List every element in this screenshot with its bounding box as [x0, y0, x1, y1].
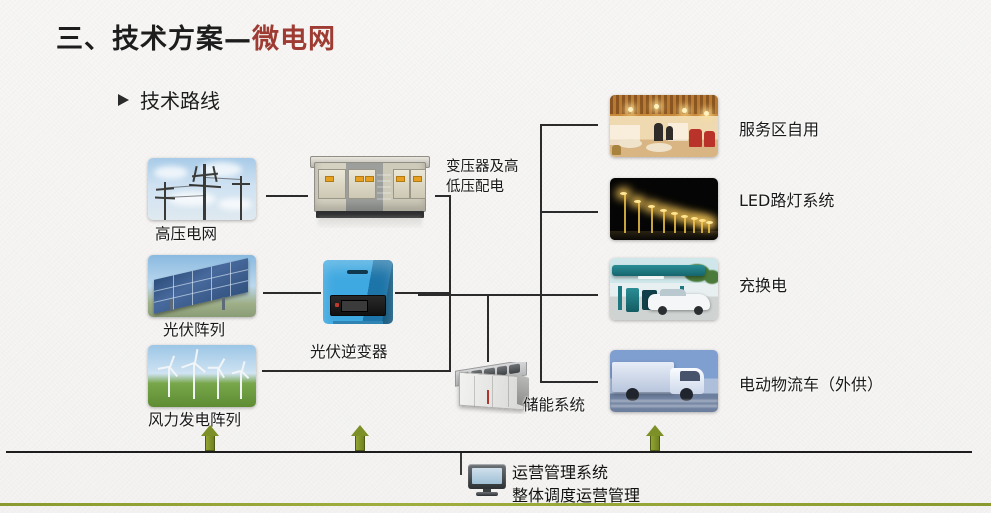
bullet-arrow-icon [118, 94, 129, 106]
branch-to-charging [540, 294, 598, 296]
up-arrow-icon-1 [201, 425, 219, 452]
high-voltage-grid-photo [148, 158, 256, 220]
branch-to-truck [540, 381, 598, 383]
conversion-image-inverter [323, 260, 393, 324]
load-image-led-lights [610, 178, 718, 240]
up-arrow-icon-3 [646, 425, 664, 452]
load-label-service-area: 服务区自用 [739, 116, 819, 140]
conversion-label-transformer-line2: 低压配电 [446, 177, 519, 197]
link-wind-riser [449, 294, 451, 372]
link-transformer-down [449, 195, 451, 296]
management-connector [460, 453, 462, 475]
load-image-electric-truck [610, 350, 718, 412]
source-image-solar-array [148, 255, 256, 317]
bottom-accent-rule [0, 503, 991, 506]
source-label-solar-array: 光伏阵列 [163, 318, 225, 340]
led-street-light-photo [610, 178, 718, 240]
load-image-charging-station [610, 258, 718, 320]
monitor-icon [468, 464, 506, 497]
conversion-label-inverter: 光伏逆变器 [310, 340, 388, 362]
pv-inverter-photo [323, 260, 393, 324]
distribution-riser [540, 124, 542, 382]
management-bus-line [6, 451, 972, 453]
source-label-high-voltage-grid: 高压电网 [155, 222, 217, 244]
branch-to-service-area [540, 124, 598, 126]
source-label-wind-farm: 风力发电阵列 [148, 408, 241, 430]
conversion-label-transformer: 变压器及高 低压配电 [446, 157, 519, 197]
conversion-label-transformer-line1: 变压器及高 [446, 157, 519, 177]
charging-swap-station-photo [610, 258, 718, 320]
load-label-led-lights: LED路灯系统 [739, 187, 834, 211]
load-label-electric-truck: 电动物流车（外供） [739, 371, 883, 395]
source-image-high-voltage-grid [148, 158, 256, 220]
conversion-image-transformer [308, 150, 432, 228]
up-arrow-icon-2 [351, 425, 369, 452]
page-title: 三、技术方案—微电网 [56, 17, 336, 56]
load-label-charging-station: 充换电 [739, 272, 787, 296]
title-prefix: 三、技术方案— [56, 24, 252, 55]
conversion-label-storage: 储能系统 [523, 393, 585, 415]
title-accent: 微电网 [252, 24, 336, 55]
operations-label-line1: 运营管理系统 [512, 461, 640, 484]
subtitle-row: 技术路线 [118, 85, 220, 114]
electric-logistics-truck-photo [610, 350, 718, 412]
wind-farm-photo [148, 345, 256, 407]
substation-transformer-photo [308, 150, 432, 228]
subtitle-text: 技术路线 [140, 85, 220, 114]
operations-label: 运营管理系统 整体调度运营管理 [512, 461, 640, 507]
link-grid-to-transformer [266, 195, 308, 197]
solar-array-photo [148, 255, 256, 317]
link-solar-to-inverter [263, 292, 321, 294]
branch-to-led-lights [540, 211, 598, 213]
service-area-photo [610, 95, 718, 157]
source-image-wind-farm [148, 345, 256, 407]
load-image-service-area [610, 95, 718, 157]
slide-canvas: 三、技术方案—微电网 技术路线 高压电网 [0, 0, 991, 513]
link-bus-to-storage [487, 294, 489, 362]
link-wind-to-bus [262, 370, 451, 372]
